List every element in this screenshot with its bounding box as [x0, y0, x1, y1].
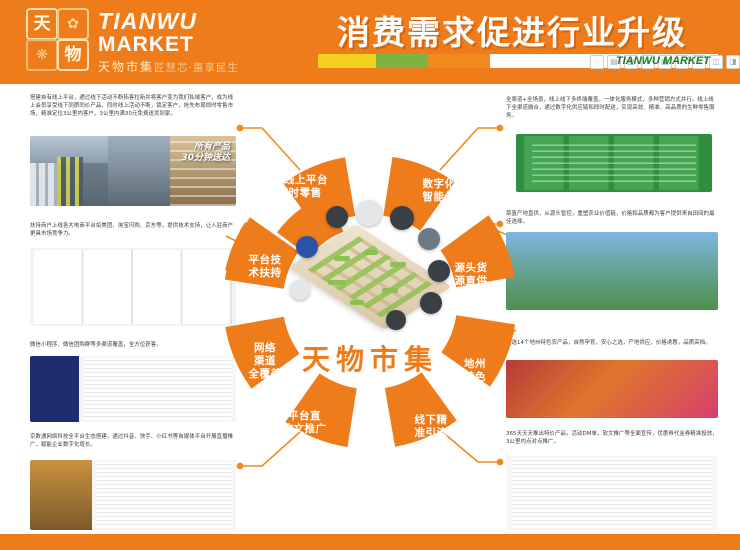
logo-chinese-name: 天物市集匠慧芯·惠享民生: [98, 58, 239, 75]
logo-glyph-grid: 天 ✿ ❋ 物: [26, 8, 90, 70]
logo-char-tian: 天: [26, 8, 58, 40]
hub-bubble-store: [418, 228, 440, 250]
search-icon: ◌: [590, 55, 604, 69]
hub-illustration: [290, 204, 450, 334]
header-banner: 消费需求促进行业升级 ◌ ▤ ▥ ❧ ▣ ♤ ♪ ◫ ◨: [296, 4, 728, 80]
logo-text-market: MARKET: [98, 33, 194, 57]
hub-leaf-4: [328, 280, 346, 285]
hub-bubble-device: [296, 236, 318, 258]
chat-icon: ◨: [726, 55, 740, 69]
logo-cn-slogan: 匠慧芯·惠享民生: [154, 62, 239, 74]
hub-bubble-mobile: [428, 260, 450, 282]
photo-platform-apps: [30, 248, 236, 326]
photo-brand-tiles: [30, 356, 79, 422]
left-text-livestream-growth: 京数通网络科技全平台生态搭建，通过抖音、快手、小红书等自媒体平台开展直播推广，赋…: [30, 433, 236, 449]
photo-fruit-collage: [506, 360, 718, 418]
photo-farm-strip: [506, 232, 718, 310]
photo-poster-collage: [92, 460, 236, 530]
hub-leaf-1: [334, 256, 350, 261]
poster-title: 消费需求促进行业升级: [296, 6, 728, 54]
photo-delivery-fleet: 所有产品30分钟送达: [30, 136, 236, 206]
banner-color-bar: ◌ ▤ ▥ ❧ ▣ ♤ ♪ ◫ ◨ TIANWU MARKET: [318, 54, 718, 68]
photo-green-screens: [516, 134, 712, 192]
logo-sprout-icon: ✿: [57, 8, 89, 40]
footer-strip: [0, 534, 740, 550]
photo-digital-platform: [516, 134, 712, 192]
logo-fruit-icon: ❋: [26, 39, 58, 71]
petal-label-digital[interactable]: 数字化智能化: [402, 178, 476, 204]
right-text-direct-supply: 菜篮产地直供，从源头管控，重塑农业价值链，价格和品质都为客户提供来自田间的最佳选…: [506, 210, 718, 226]
wheel-center-title: 天物市集: [302, 338, 438, 378]
petal-label-network-cover[interactable]: 网络渠道全覆盖: [228, 342, 302, 381]
tag-icon: ◫: [709, 55, 723, 69]
petal-label-self-platform[interactable]: 自有线上平台+即时零售: [258, 174, 332, 200]
hub-leaf-2: [364, 250, 378, 255]
photo-fresh-fruit: [506, 360, 718, 418]
photo-trucks: [30, 136, 108, 206]
bar-segment-white: ◌ ▤ ▥ ❧ ▣ ♤ ♪ ◫ ◨ TIANWU MARKET: [490, 54, 718, 68]
hub-leaf-3: [390, 262, 406, 267]
hub-bubble-delivery: [390, 206, 414, 230]
poster-header: 天 ✿ ❋ 物 TIANWU MARKET 天物市集匠慧芯·惠享民生 消费需求促…: [0, 0, 740, 84]
logo-char-wu: 物: [57, 39, 89, 71]
hub-bubble-logistics: [386, 310, 406, 330]
photo-market-collage: [30, 460, 236, 530]
hub-bubble-warehouse: [420, 292, 442, 314]
photo-flyer-grid: [79, 356, 236, 422]
left-text-wechat-channels: 微信小程序、微信团购群等多渠道覆盖，全方位获客。: [30, 341, 236, 349]
photo-app-screens: [30, 248, 236, 326]
right-text-omni-channel: 全渠道+全场景，线上线下多终端覆盖，一体化服务模式，多种营销方式并行。线上线下全…: [506, 96, 718, 121]
petal-label-offline-traffic[interactable]: 线下精准引流: [394, 414, 468, 440]
left-text-ecommerce-support: 扶持商户上线各大电商平台如美团、淘宝闪购、京东等，提供技术支持，让入驻商户更具市…: [30, 222, 236, 238]
photo-market-aisle: [30, 460, 92, 530]
photo-brand-and-flyers: [30, 356, 236, 422]
photo-farm-scenic: [506, 232, 718, 310]
photo-riders: [108, 136, 170, 206]
logo-cn-main: 天物市集: [98, 60, 154, 74]
hub-bubble-shopper: [356, 200, 382, 226]
bar-segment-orange: [428, 54, 490, 68]
logo-text-tianwu: TIANWU: [98, 8, 197, 35]
bar-segment-yellow: [318, 54, 376, 68]
bar-segment-green: [376, 54, 428, 68]
petal-label-regional[interactable]: 地州特色: [438, 358, 512, 384]
photo-dm-sheets: [506, 456, 718, 530]
hub-leaf-6: [350, 300, 364, 305]
brand-logo: 天 ✿ ❋ 物 TIANWU MARKET 天物市集匠慧芯·惠享民生: [26, 6, 276, 74]
poster-canvas: 天 ✿ ❋ 物 TIANWU MARKET 天物市集匠慧芯·惠享民生 消费需求促…: [0, 0, 740, 550]
left-text-instant-retail: 搭建自有线上平台，通过线下活动不断拓客拉新并将客户变为我们私域客户，成为线上会员…: [30, 94, 236, 119]
photo-dm-flyers: [506, 456, 718, 530]
banner-brand-mark: TIANWU MARKET: [616, 54, 710, 68]
hub-leaf-5: [382, 288, 398, 293]
right-text-regional-products: 优选14个地州特色农产品，自然孕育，安心之选，产地供应，价格诱惠，品质高档。: [506, 339, 718, 347]
center-wheel: 自有线上平台+即时零售 数字化智能化 源头货源直供 地州特色 线下精准引流 多平…: [216, 142, 524, 462]
petal-label-livestream[interactable]: 多平台直播软文推广: [262, 410, 336, 436]
right-text-daily-promotion: 365天天天推出特价产品，活动DM单，软文推广等全面宣传，优惠券代金券精准投放，…: [506, 430, 718, 446]
hub-bubble-appliance: [326, 206, 348, 228]
hub-bubble-service: [290, 280, 310, 300]
